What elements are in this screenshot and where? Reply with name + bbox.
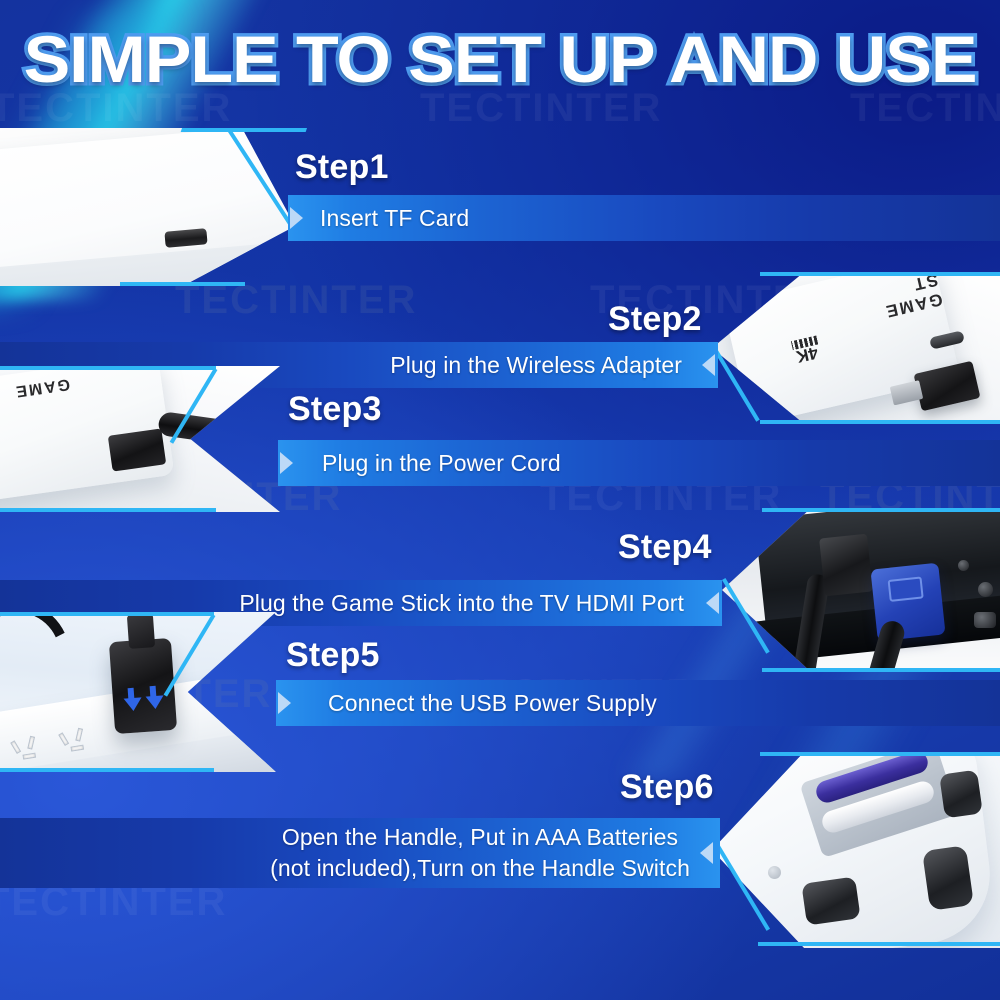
step-2-description: Plug in the Wireless Adapter — [390, 352, 682, 379]
step-5-band: Connect the USB Power Supply — [276, 680, 1000, 726]
step-3-photo-edge-bottom — [0, 508, 216, 512]
step-1-photo-edge-top — [181, 128, 307, 132]
chevron-right-icon — [290, 207, 303, 229]
step-2-photo-edge-bottom — [760, 420, 1000, 424]
step-3-description: Plug in the Power Cord — [322, 450, 561, 477]
step-5-photo-edge-bottom — [0, 768, 214, 772]
page-title: SIMPLE TO SET UP AND USE — [0, 22, 1000, 96]
chevron-left-icon — [702, 354, 715, 376]
step-6-description-line-2: (not included),Turn on the Handle Switch — [270, 855, 690, 881]
step-4-description: Plug the Game Stick into the TV HDMI Por… — [239, 590, 684, 617]
device-brand-text: GAME ST — [851, 272, 945, 328]
device-badge-4k: 4K — [794, 342, 820, 366]
step-4-label: Step4 — [618, 528, 712, 567]
step-6-photo-edge-bottom — [758, 942, 1000, 946]
infographic-canvas: TECTINTER TECTINTER TECTINTER TECTINTER … — [0, 0, 1000, 1000]
step-5-description: Connect the USB Power Supply — [328, 690, 657, 717]
step-1-band: Insert TF Card — [288, 195, 1000, 241]
step-6-description-line-1: Open the Handle, Put in AAA Batteries — [282, 824, 678, 850]
step-4-photo-edge-bottom — [762, 668, 1000, 672]
step-6-label: Step6 — [620, 768, 714, 807]
step-1-description: Insert TF Card — [320, 205, 469, 232]
chevron-left-icon — [700, 842, 713, 864]
step-6-band: Open the Handle, Put in AAA Batteries (n… — [0, 818, 720, 888]
step-5-label: Step5 — [286, 636, 380, 675]
step-3-band: Plug in the Power Cord — [278, 440, 1000, 486]
step-1-photo-edge-bottom — [120, 282, 245, 286]
device-brand-text: GAME — [13, 374, 71, 400]
chevron-right-icon — [280, 452, 293, 474]
step-6-description: Open the Handle, Put in AAA Batteries (n… — [270, 822, 690, 884]
step-4-photo-edge-top — [762, 508, 1000, 512]
step-3-label: Step3 — [288, 390, 382, 429]
chevron-left-icon — [706, 592, 719, 614]
step-3-photo-edge-top — [0, 366, 216, 370]
step-5-photo-edge-top — [0, 612, 214, 616]
step-6-photo-edge-top — [760, 752, 1000, 756]
step-2-label: Step2 — [608, 300, 702, 339]
step-1-label: Step1 — [295, 148, 389, 187]
chevron-right-icon — [278, 692, 291, 714]
step-2-photo-edge-top — [760, 272, 1000, 276]
